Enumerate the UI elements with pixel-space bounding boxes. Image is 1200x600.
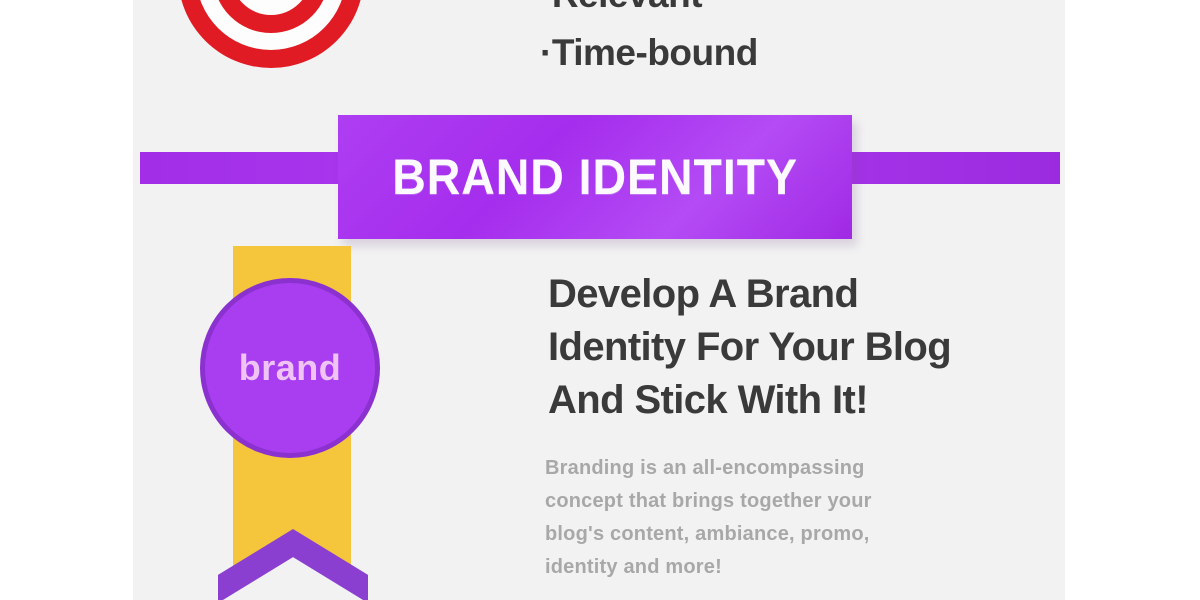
smart-goals-bullet-list: ·Relevant ·Time-bound — [540, 0, 960, 82]
bullet-item-time-bound: ·Time-bound — [540, 24, 960, 82]
body-line-1: Branding is an all-encompassing — [545, 452, 975, 485]
infographic-page: ·Relevant ·Time-bound BRAND IDENTITY bra… — [0, 0, 1200, 600]
section-banner-title: BRAND IDENTITY — [392, 148, 798, 206]
body-paragraph: Branding is an all-encompassing concept … — [545, 452, 975, 584]
target-icon — [178, 0, 364, 68]
body-line-3: blog's content, ambiance, promo, — [545, 518, 975, 551]
section-banner: BRAND IDENTITY — [338, 115, 852, 239]
bullet-item-relevant: ·Relevant — [540, 0, 960, 24]
body-line-2: concept that brings together your — [545, 485, 975, 518]
badge-label: brand — [239, 347, 342, 389]
body-line-4: identity and more! — [545, 551, 975, 584]
page-title: Develop A Brand Identity For Your Blog A… — [548, 268, 1048, 427]
badge-circle: brand — [200, 278, 380, 458]
headline-line-2: Identity For Your Blog — [548, 321, 1048, 374]
award-ribbon-icon: brand — [196, 246, 396, 600]
headline-line-3: And Stick With It! — [548, 374, 1048, 427]
headline-line-1: Develop A Brand — [548, 268, 1048, 321]
